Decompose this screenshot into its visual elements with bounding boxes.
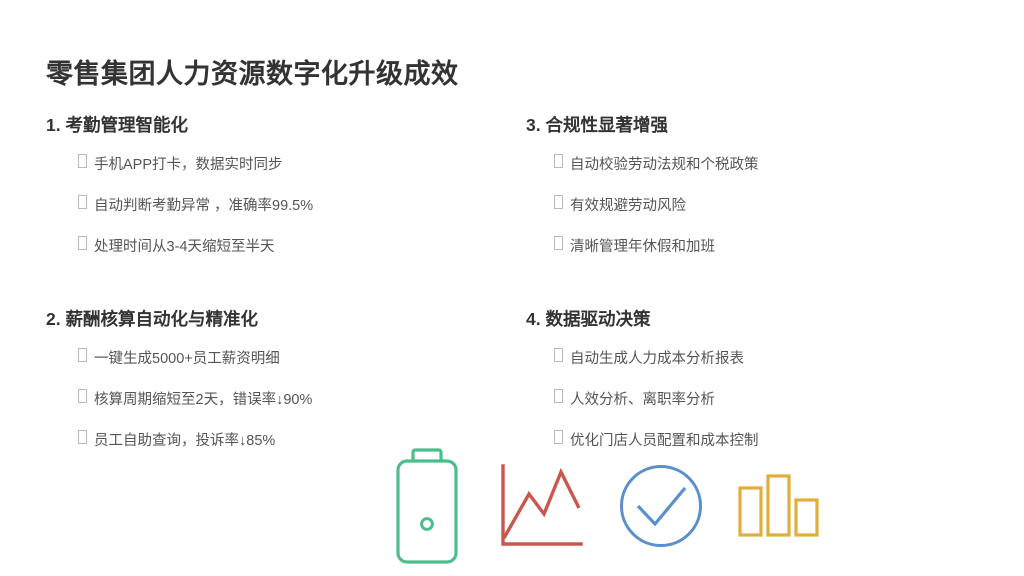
- bullet-marker-icon: [554, 195, 563, 209]
- bullet-marker-icon: [78, 430, 87, 444]
- mobile-phone-icon: [390, 447, 464, 565]
- list-item: 有效规避劳动风险: [554, 194, 978, 215]
- decorative-icon-strip: [390, 443, 820, 568]
- bullet-marker-icon: [554, 236, 563, 250]
- section-heading: 1. 考勤管理智能化: [46, 112, 498, 137]
- section-heading: 4. 数据驱动决策: [526, 306, 978, 331]
- list-item: 人效分析、离职率分析: [554, 388, 978, 409]
- icon-slot-phone: [390, 443, 464, 568]
- list-item-label: 自动生成人力成本分析报表: [570, 347, 744, 368]
- bullet-list: 一键生成5000+员工薪资明细 核算周期缩短至2天，错误率↓90% 员工自助查询…: [78, 347, 498, 450]
- bullet-marker-icon: [554, 389, 563, 403]
- list-item-label: 处理时间从3-4天缩短至半天: [94, 235, 274, 256]
- bullet-marker-icon: [78, 154, 87, 168]
- line-chart-icon: [499, 464, 585, 548]
- bullet-marker-icon: [78, 236, 87, 250]
- bullet-marker-icon: [78, 348, 87, 362]
- section-data-driven: 4. 数据驱动决策 自动生成人力成本分析报表 人效分析、离职率分析 优化门店人员…: [526, 306, 978, 450]
- list-item-label: 自动校验劳动法规和个税政策: [570, 153, 759, 174]
- section-heading: 2. 薪酬核算自动化与精准化: [46, 306, 498, 331]
- list-item-label: 员工自助查询，投诉率↓85%: [94, 429, 275, 450]
- bullet-marker-icon: [554, 348, 563, 362]
- page-title: 零售集团人力资源数字化升级成效: [46, 52, 459, 91]
- list-item: 一键生成5000+员工薪资明细: [78, 347, 498, 368]
- bullet-marker-icon: [78, 195, 87, 209]
- list-item-label: 自动判断考勤异常 ，准确率99.5%: [94, 194, 313, 215]
- bullet-list: 自动校验劳动法规和个税政策 有效规避劳动风险 清晰管理年休假和加班: [554, 153, 978, 256]
- icon-slot-check: [619, 443, 703, 568]
- bullet-marker-icon: [78, 389, 87, 403]
- section-payroll: 2. 薪酬核算自动化与精准化 一键生成5000+员工薪资明细 核算周期缩短至2天…: [46, 306, 498, 450]
- bullet-list: 自动生成人力成本分析报表 人效分析、离职率分析 优化门店人员配置和成本控制: [554, 347, 978, 450]
- list-item-label: 有效规避劳动风险: [570, 194, 686, 215]
- section-attendance: 1. 考勤管理智能化 手机APP打卡，数据实时同步 自动判断考勤异常 ，准确率9…: [46, 112, 498, 256]
- icon-slot-bar-chart: [738, 443, 820, 568]
- list-item: 处理时间从3-4天缩短至半天: [78, 235, 498, 256]
- list-item: 核算周期缩短至2天，错误率↓90%: [78, 388, 498, 409]
- list-item-label: 手机APP打卡，数据实时同步: [94, 153, 283, 174]
- bullet-marker-icon: [554, 430, 563, 444]
- list-item: 自动判断考勤异常 ，准确率99.5%: [78, 194, 498, 215]
- icon-slot-line-chart: [499, 443, 585, 568]
- section-compliance: 3. 合规性显著增强 自动校验劳动法规和个税政策 有效规避劳动风险 清晰管理年休…: [526, 112, 978, 256]
- list-item: 手机APP打卡，数据实时同步: [78, 153, 498, 174]
- content-columns: 1. 考勤管理智能化 手机APP打卡，数据实时同步 自动判断考勤异常 ，准确率9…: [46, 112, 978, 450]
- list-item: 自动校验劳动法规和个税政策: [554, 153, 978, 174]
- list-item-label: 核算周期缩短至2天，错误率↓90%: [94, 388, 312, 409]
- check-circle-icon: [619, 464, 703, 548]
- list-item: 自动生成人力成本分析报表: [554, 347, 978, 368]
- list-item-label: 清晰管理年休假和加班: [570, 235, 715, 256]
- list-item-label: 一键生成5000+员工薪资明细: [94, 347, 280, 368]
- bullet-list: 手机APP打卡，数据实时同步 自动判断考勤异常 ，准确率99.5% 处理时间从3…: [78, 153, 498, 256]
- list-item: 清晰管理年休假和加班: [554, 235, 978, 256]
- bullet-marker-icon: [554, 154, 563, 168]
- list-item-label: 人效分析、离职率分析: [570, 388, 715, 409]
- slide-canvas: 零售集团人力资源数字化升级成效 1. 考勤管理智能化 手机APP打卡，数据实时同…: [0, 0, 1024, 576]
- section-heading: 3. 合规性显著增强: [526, 112, 978, 137]
- bar-chart-icon: [738, 474, 820, 538]
